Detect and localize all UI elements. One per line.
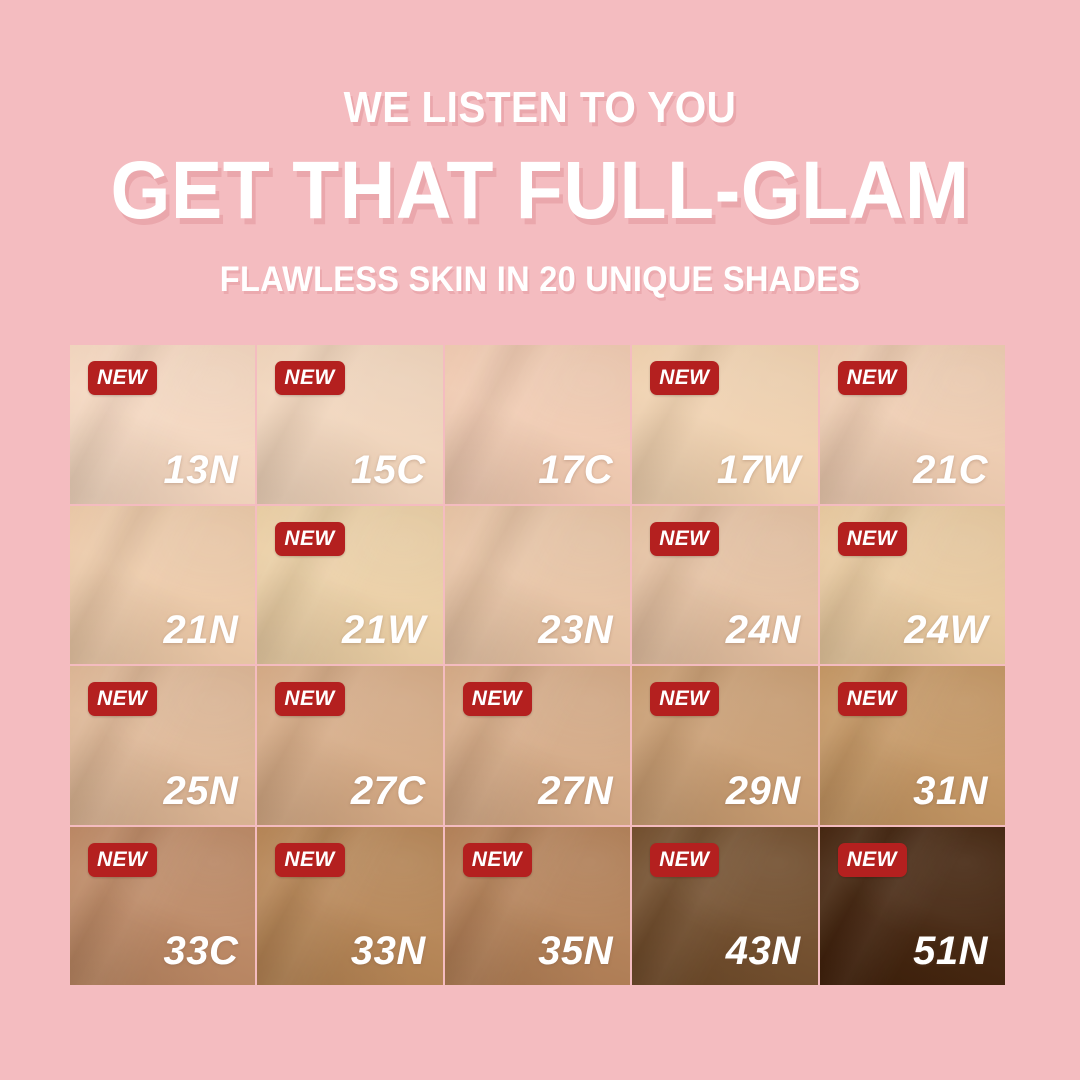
new-badge: NEW <box>88 682 157 716</box>
shade-swatch[interactable]: NEW21W <box>257 506 442 665</box>
shade-code-label: 27C <box>351 771 426 811</box>
shade-code-label: 21C <box>913 450 988 490</box>
new-badge: NEW <box>838 522 907 556</box>
shade-code-label: 21W <box>342 610 426 650</box>
shade-swatch[interactable]: NEW31N <box>820 666 1005 825</box>
shade-swatch[interactable]: 17C <box>445 345 630 504</box>
shade-code-label: 43N <box>726 931 801 971</box>
shade-code-label: 24N <box>726 610 801 650</box>
shade-swatch[interactable]: 23N <box>445 506 630 665</box>
shade-swatch[interactable]: NEW33N <box>257 827 442 986</box>
shade-code-label: 17C <box>538 450 613 490</box>
shade-swatch[interactable]: NEW21C <box>820 345 1005 504</box>
new-badge: NEW <box>88 361 157 395</box>
shade-code-label: 25N <box>164 771 239 811</box>
new-badge: NEW <box>275 361 344 395</box>
new-badge: NEW <box>463 682 532 716</box>
shade-code-label: 17W <box>717 450 801 490</box>
header: WE LISTEN TO YOU GET THAT FULL-GLAM FLAW… <box>0 0 1080 297</box>
new-badge: NEW <box>88 843 157 877</box>
new-badge: NEW <box>838 361 907 395</box>
shade-code-label: 27N <box>538 771 613 811</box>
shade-code-label: 35N <box>538 931 613 971</box>
shade-swatch[interactable]: NEW13N <box>70 345 255 504</box>
new-badge: NEW <box>650 682 719 716</box>
shade-swatch[interactable]: NEW24W <box>820 506 1005 665</box>
shade-swatch[interactable]: NEW15C <box>257 345 442 504</box>
shade-code-label: 15C <box>351 450 426 490</box>
shade-swatch[interactable]: 21N <box>70 506 255 665</box>
subtitle-text: FLAWLESS SKIN IN 20 UNIQUE SHADES <box>38 262 1042 297</box>
page-title: GET THAT FULL-GLAM <box>32 150 1047 232</box>
shade-swatch[interactable]: NEW43N <box>632 827 817 986</box>
shade-swatch[interactable]: NEW25N <box>70 666 255 825</box>
shade-code-label: 21N <box>164 610 239 650</box>
shade-swatch[interactable]: NEW29N <box>632 666 817 825</box>
eyebrow-text: WE LISTEN TO YOU <box>43 86 1037 130</box>
new-badge: NEW <box>650 843 719 877</box>
shade-code-label: 31N <box>913 771 988 811</box>
shade-code-label: 33C <box>164 931 239 971</box>
new-badge: NEW <box>275 522 344 556</box>
shade-code-label: 29N <box>726 771 801 811</box>
shade-grid: NEW13NNEW15C17CNEW17WNEW21C21NNEW21W23NN… <box>70 345 1005 985</box>
shade-swatch[interactable]: NEW27N <box>445 666 630 825</box>
shade-swatch[interactable]: NEW27C <box>257 666 442 825</box>
shade-code-label: 24W <box>904 610 988 650</box>
shade-swatch[interactable]: NEW51N <box>820 827 1005 986</box>
shade-swatch[interactable]: NEW24N <box>632 506 817 665</box>
new-badge: NEW <box>275 843 344 877</box>
shade-code-label: 23N <box>538 610 613 650</box>
new-badge: NEW <box>650 522 719 556</box>
new-badge: NEW <box>275 682 344 716</box>
new-badge: NEW <box>838 843 907 877</box>
new-badge: NEW <box>650 361 719 395</box>
shade-swatch[interactable]: NEW33C <box>70 827 255 986</box>
shade-range-poster: WE LISTEN TO YOU GET THAT FULL-GLAM FLAW… <box>0 0 1080 1080</box>
new-badge: NEW <box>463 843 532 877</box>
shade-swatch[interactable]: NEW35N <box>445 827 630 986</box>
shade-code-label: 33N <box>351 931 426 971</box>
new-badge: NEW <box>838 682 907 716</box>
shade-code-label: 51N <box>913 931 988 971</box>
shade-code-label: 13N <box>164 450 239 490</box>
shade-swatch[interactable]: NEW17W <box>632 345 817 504</box>
